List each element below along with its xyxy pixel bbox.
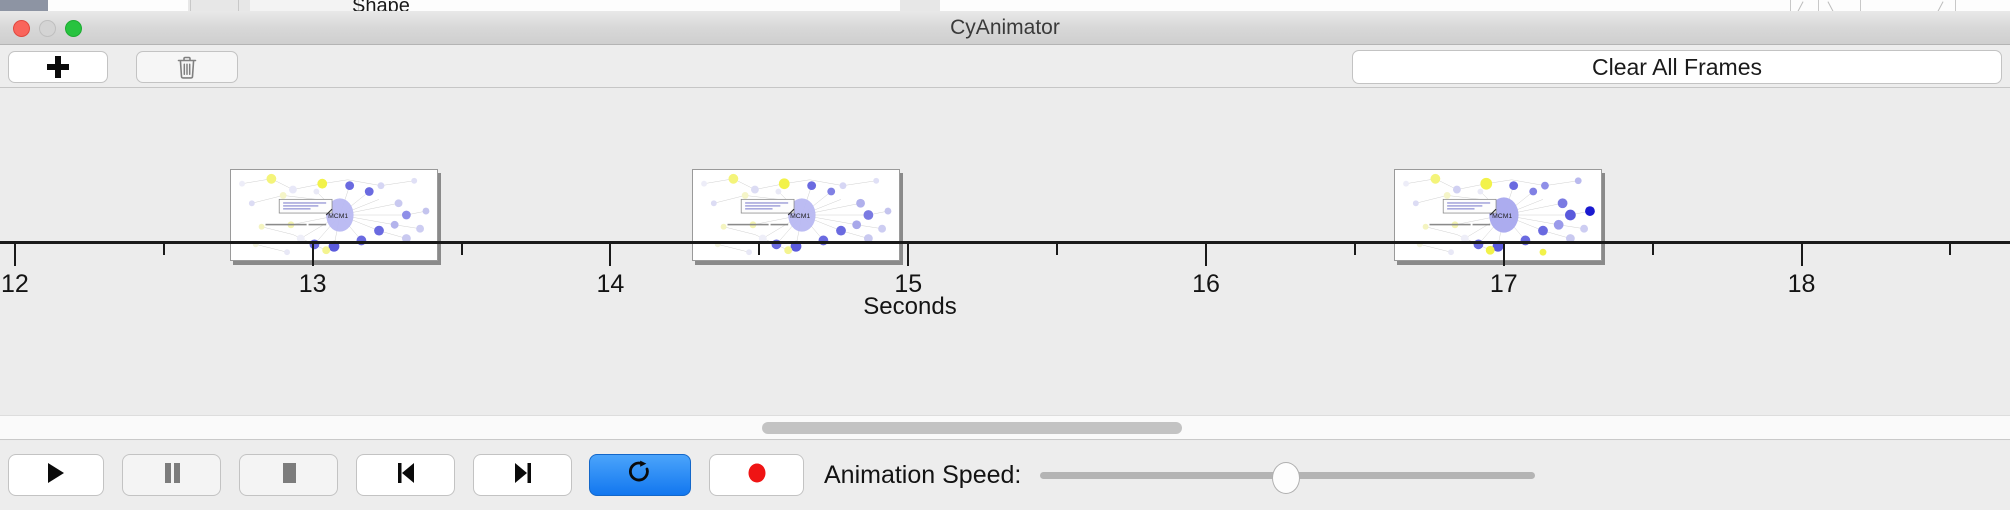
timeline-frame-thumbnail[interactable]: MCM1 bbox=[230, 169, 438, 261]
play-button[interactable] bbox=[8, 454, 104, 496]
add-frame-button[interactable] bbox=[8, 51, 108, 83]
skip-to-end-button[interactable] bbox=[473, 454, 572, 496]
timeline-tick-label: 16 bbox=[1192, 270, 1220, 299]
pause-button[interactable] bbox=[122, 454, 221, 496]
loop-icon bbox=[628, 460, 652, 491]
skip-to-start-button[interactable] bbox=[356, 454, 455, 496]
timeline-frame-thumbnail[interactable]: MCM1 bbox=[692, 169, 900, 261]
play-icon bbox=[45, 461, 67, 490]
timeline-axis-line bbox=[0, 241, 2010, 244]
timeline-scrollbar-thumb[interactable] bbox=[762, 422, 1182, 434]
background-app-label: Shape bbox=[352, 0, 410, 11]
svg-text:MCM1: MCM1 bbox=[328, 213, 348, 220]
timeline-tick-label: 13 bbox=[299, 270, 327, 299]
timeline-tick-major bbox=[609, 244, 611, 266]
timeline-axis-caption: Seconds bbox=[863, 293, 956, 321]
timeline-tick-minor bbox=[163, 244, 165, 255]
timeline-tick-minor bbox=[1949, 244, 1951, 255]
timeline-tick-minor bbox=[1056, 244, 1058, 255]
record-button[interactable] bbox=[709, 454, 804, 496]
timeline-tick-major bbox=[907, 244, 909, 266]
delete-frame-button[interactable] bbox=[136, 51, 238, 83]
animation-speed-slider-thumb[interactable] bbox=[1272, 462, 1300, 494]
timeline-tick-label: 12 bbox=[1, 270, 29, 299]
timeline-panel[interactable]: MCM1 bbox=[0, 88, 2010, 415]
timeline-tick-major bbox=[1801, 244, 1803, 266]
record-icon bbox=[746, 461, 768, 490]
loop-button[interactable] bbox=[589, 454, 691, 496]
timeline-tick-label: 17 bbox=[1490, 270, 1518, 299]
timeline-scrollbar[interactable] bbox=[0, 415, 2010, 440]
skip-back-icon bbox=[395, 461, 417, 490]
frame-toolbar: Clear All Frames bbox=[0, 45, 2010, 88]
svg-text:MCM1: MCM1 bbox=[790, 213, 810, 220]
timeline-tick-minor bbox=[1354, 244, 1356, 255]
background-desktop-strip: Shape bbox=[0, 0, 2010, 11]
timeline-tick-label: 14 bbox=[597, 270, 625, 299]
timeline-tick-major bbox=[14, 244, 16, 266]
clear-all-frames-button[interactable]: Clear All Frames bbox=[1352, 50, 2002, 84]
skip-forward-icon bbox=[512, 461, 534, 490]
trash-icon bbox=[177, 56, 197, 79]
svg-text:MCM1: MCM1 bbox=[1492, 213, 1512, 220]
pause-icon bbox=[162, 461, 182, 490]
stop-icon bbox=[279, 461, 299, 490]
timeline-tick-major bbox=[1205, 244, 1207, 266]
cyanimator-window: Shape CyAnimator Clear All Frames bbox=[0, 0, 2010, 510]
animation-speed-label: Animation Speed: bbox=[824, 454, 1021, 496]
timeline-tick-label: 18 bbox=[1788, 270, 1816, 299]
window-title: CyAnimator bbox=[0, 11, 2010, 45]
title-bar[interactable]: CyAnimator bbox=[0, 11, 2010, 45]
playback-control-bar: Animation Speed: bbox=[0, 441, 2010, 510]
stop-button[interactable] bbox=[239, 454, 338, 496]
timeline-tick-minor bbox=[758, 244, 760, 255]
timeline-tick-minor bbox=[1652, 244, 1654, 255]
plus-icon bbox=[47, 56, 69, 78]
timeline-frame-thumbnail[interactable]: MCM1 bbox=[1394, 169, 1602, 261]
timeline-tick-major bbox=[312, 244, 314, 266]
timeline-tick-major bbox=[1503, 244, 1505, 266]
timeline-tick-minor bbox=[461, 244, 463, 255]
